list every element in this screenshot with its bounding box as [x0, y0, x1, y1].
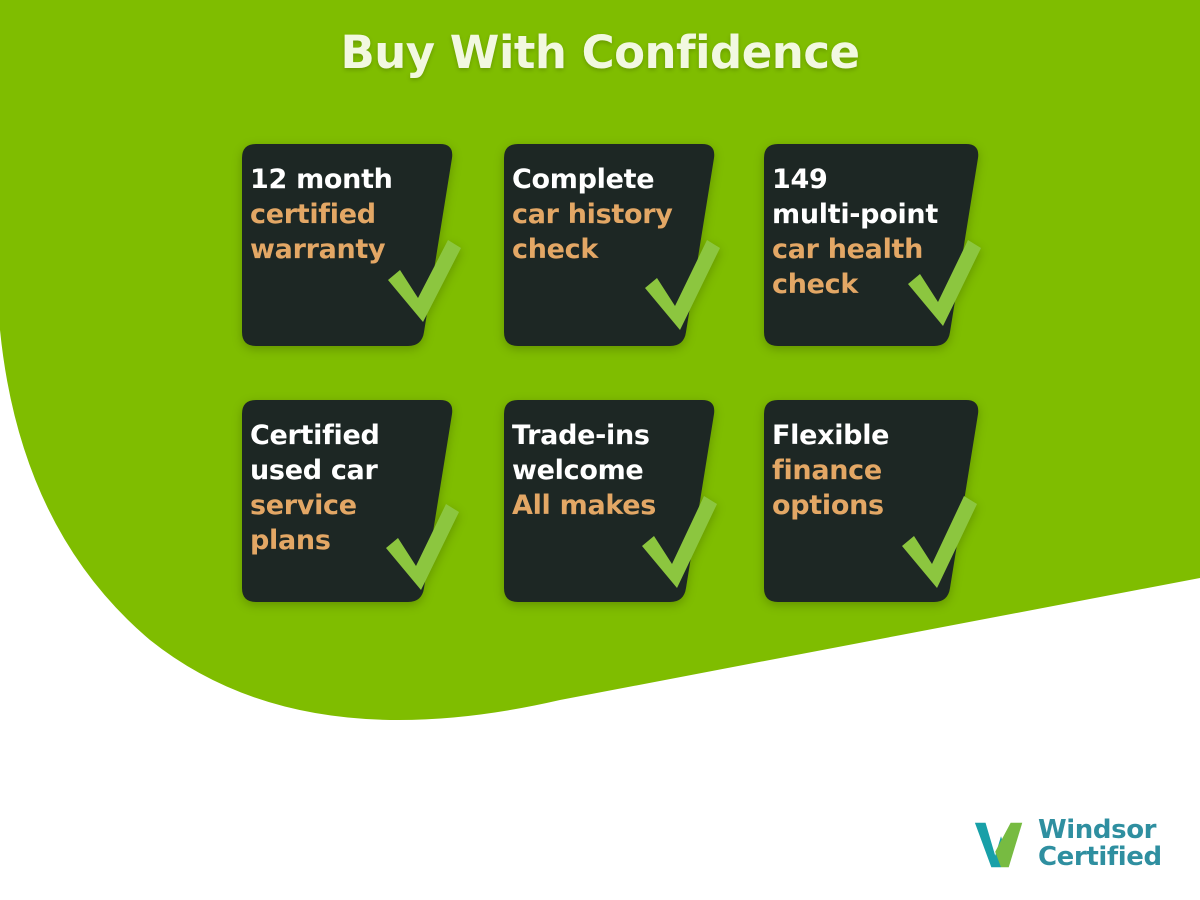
feature-card-grid: 12 month certified warranty Complete car… [0, 0, 1200, 900]
feature-card-history[interactable]: Complete car history check [490, 142, 746, 352]
logo-line-windsor: Windsor [1038, 817, 1162, 844]
brand-logo[interactable]: Windsor Certified [972, 808, 1162, 880]
feature-card-finance[interactable]: Flexible finance options [750, 398, 1006, 608]
feature-card-warranty[interactable]: 12 month certified warranty [228, 142, 484, 352]
logo-wordmark: Windsor Certified [1038, 817, 1162, 870]
poster-canvas: Buy With Confidence 12 month certified w… [0, 0, 1200, 900]
feature-card-tradeins[interactable]: Trade-ins welcome All makes [490, 398, 746, 608]
logo-line-certified: Certified [1038, 844, 1162, 871]
feature-card-health[interactable]: 149 multi-point car health check [750, 142, 1006, 352]
page-title: Buy With Confidence [0, 26, 1200, 79]
windsor-w-icon [972, 816, 1030, 872]
feature-card-service-plans[interactable]: Certified used car service plans [228, 398, 484, 608]
